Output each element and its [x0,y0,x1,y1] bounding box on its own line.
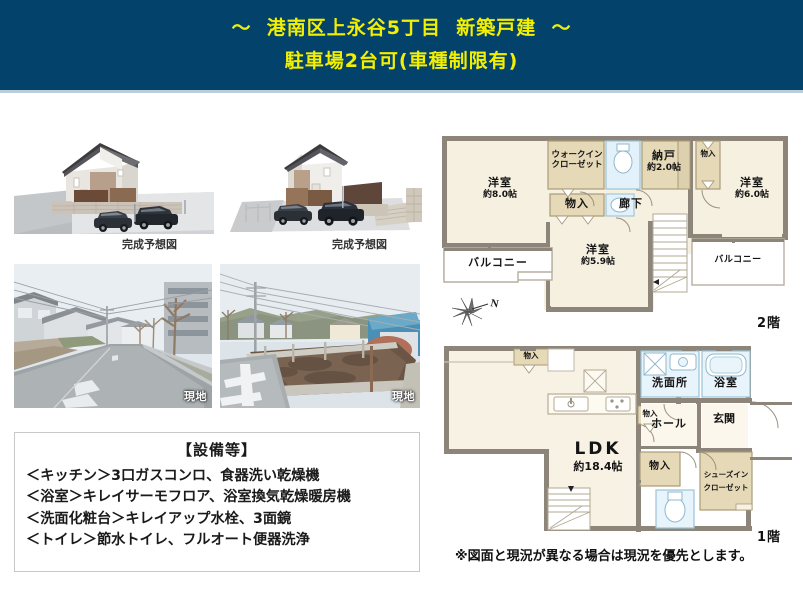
equipment-item-bathroom: ＜浴室＞キレイサーモフロア、浴室換気乾燥暖房機 [15,487,419,509]
exterior-rendering-2 [224,126,424,234]
header-title-line1: ～ 港南区上永谷5丁目 新築戸建 ～ [232,16,572,42]
disclaimer-note: ※図面と現況が異なる場合は現況を優先とします。 [455,545,752,564]
site-photo-lot: 現地 [220,264,420,408]
room-label-corridor: 廊下 [606,198,656,210]
equipment-item-toilet: ＜トイレ＞節水トイレ、フルオート便器洗浄 [15,530,419,552]
header-title-line2: 駐車場2台可(車種制限有) [285,49,519,75]
exterior-rendering-1 [14,126,214,234]
floor-tag-2f: 2階 [757,312,781,331]
room-label-closet-ldk: 物入 [514,352,548,361]
room-label-hall: ホール [641,418,697,430]
compass-north-label: N [489,297,499,310]
room-label-walk-in-closet: ウォークイン クローゼット [550,150,604,170]
equipment-box: 【設備等】 ＜キッチン＞3口ガスコンロ、食器洗い乾燥機 ＜浴室＞キレイサーモフロ… [14,432,420,572]
equipment-list: ＜キッチン＞3口ガスコンロ、食器洗い乾燥機 ＜浴室＞キレイサーモフロア、浴室換気… [15,466,419,552]
room-label-bathroom: 浴室 [704,377,748,389]
caption-rendering-2: 完成予想図 [332,236,387,252]
room-label-closet-upper: 物入 [696,148,720,159]
caption-site-street: 現地 [184,388,207,404]
room-label-closet-mid: 物入 [550,198,604,210]
room-label-washroom: 洗面所 [643,377,697,389]
equipment-item-kitchen: ＜キッチン＞3口ガスコンロ、食器洗い乾燥機 [15,466,419,488]
room-label-shoe-in-closet: シューズイン クローゼット [700,469,752,495]
floorplan-first-floor: LDK 約18.4帖 物入 洗面所 浴室 ホール 玄関 シューズイン クローゼッ… [440,340,792,536]
page-header: ～ 港南区上永谷5丁目 新築戸建 ～ 駐車場2台可(車種制限有) [0,0,803,90]
room-label-bedroom-6: 洋室 約6.0帖 [722,177,782,200]
equipment-item-vanity: ＜洗面化粧台＞キレイアップ水栓、3面鏡 [15,509,419,531]
equipment-title: 【設備等】 [15,442,419,459]
room-label-balcony-left: バルコニー [450,257,546,270]
room-label-entrance: 玄関 [713,412,735,427]
room-label-bedroom-8: 洋室 約8.0帖 [469,177,531,200]
room-label-bedroom-59: 洋室 約5.9帖 [566,244,630,267]
room-label-balcony-right: バルコニー [698,255,778,266]
caption-rendering-1: 完成予想図 [122,236,177,252]
room-label-ldk: LDK 約18.4帖 [558,440,638,473]
floor-tag-1f: 1階 [757,526,781,545]
site-photo-street: 現地 [14,264,212,408]
room-label-closet-hall: 物入 [640,461,680,472]
floorplan-second-floor: 洋室 約8.0帖 ウォークイン クローゼット 納戸 約2.0帖 物入 洋室 約6… [440,122,792,312]
compass-rose: N [448,292,504,332]
room-label-storeroom: 納戸 約2.0帖 [642,150,686,173]
rendering-captions: 完成予想図 完成予想図 [14,236,424,254]
room-label-closet-kitchen: 物入 [638,410,662,419]
caption-site-lot: 現地 [392,388,415,404]
header-bottom-rule [0,90,803,93]
